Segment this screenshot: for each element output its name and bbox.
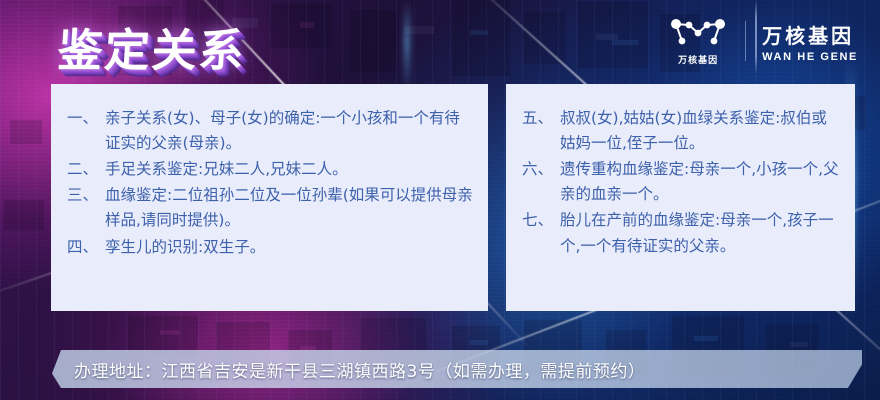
poster-root: 鉴定关系 [0, 0, 880, 400]
list-item-text: 叔叔(女),姑姑(女)血绿关系鉴定:叔伯或姑妈一位,侄子一位。 [560, 106, 841, 156]
brand-text: 万核基因 WAN HE GENE [762, 20, 858, 63]
brand-mark-label: 万核基因 [678, 53, 718, 66]
brand-divider [745, 21, 746, 61]
relationship-list-left: 一、亲子关系(女)、母子(女)的确定:一个小孩和一个有待证实的父亲(母亲)。二、… [67, 106, 474, 260]
panel-right: 五、叔叔(女),姑姑(女)血绿关系鉴定:叔伯或姑妈一位,侄子一位。六、遗传重构血… [506, 84, 855, 311]
brand-logo: 万核基因 万核基因 WAN HE GENE [667, 16, 858, 66]
list-item-text: 亲子关系(女)、母子(女)的确定:一个小孩和一个有待证实的父亲(母亲)。 [105, 106, 474, 156]
list-item-text: 胎儿在产前的血缘鉴定:母亲一个,孩子一个,一个有待证实的父亲。 [560, 208, 841, 258]
list-item-text: 遗传重构血缘鉴定:母亲一个,小孩一个,父亲的血亲一个。 [560, 157, 841, 207]
page-title: 鉴定关系 [56, 14, 249, 79]
dna-network-icon [667, 16, 729, 50]
address-text: 办理地址：江西省吉安是新干县三湖镇西路3号（如需办理，需提前预约） [74, 357, 645, 382]
list-item-index: 六、 [522, 157, 560, 207]
list-item-text: 孪生儿的识别:双生子。 [105, 235, 474, 260]
list-item: 一、亲子关系(女)、母子(女)的确定:一个小孩和一个有待证实的父亲(母亲)。 [67, 106, 474, 156]
list-item-index: 五、 [522, 106, 560, 156]
brand-mark: 万核基因 [667, 16, 729, 66]
list-item: 五、叔叔(女),姑姑(女)血绿关系鉴定:叔伯或姑妈一位,侄子一位。 [522, 106, 841, 156]
list-item-index: 二、 [67, 157, 105, 182]
list-item: 四、孪生儿的识别:双生子。 [67, 235, 474, 260]
content-panels: 一、亲子关系(女)、母子(女)的确定:一个小孩和一个有待证实的父亲(母亲)。二、… [51, 84, 855, 311]
relationship-list-right: 五、叔叔(女),姑姑(女)血绿关系鉴定:叔伯或姑妈一位,侄子一位。六、遗传重构血… [522, 106, 841, 259]
brand-name-en: WAN HE GENE [762, 51, 858, 63]
list-item-index: 三、 [67, 183, 105, 233]
list-item-text: 手足关系鉴定:兄妹二人,兄妹二人。 [105, 157, 474, 182]
list-item-index: 一、 [67, 106, 105, 156]
list-item: 三、血缘鉴定:二位祖孙二位及一位孙辈(如果可以提供母亲样品,请同时提供)。 [67, 183, 474, 233]
list-item-index: 七、 [522, 208, 560, 258]
panel-left: 一、亲子关系(女)、母子(女)的确定:一个小孩和一个有待证实的父亲(母亲)。二、… [51, 84, 488, 311]
list-item: 六、遗传重构血缘鉴定:母亲一个,小孩一个,父亲的血亲一个。 [522, 157, 841, 207]
address-bar: 办理地址：江西省吉安是新干县三湖镇西路3号（如需办理，需提前预约） [52, 350, 862, 388]
list-item-text: 血缘鉴定:二位祖孙二位及一位孙辈(如果可以提供母亲样品,请同时提供)。 [105, 183, 474, 233]
background-glow-beam-1 [404, 0, 410, 92]
list-item: 二、手足关系鉴定:兄妹二人,兄妹二人。 [67, 157, 474, 182]
brand-name-cn: 万核基因 [762, 20, 858, 49]
list-item: 七、胎儿在产前的血缘鉴定:母亲一个,孩子一个,一个有待证实的父亲。 [522, 208, 841, 258]
list-item-index: 四、 [67, 235, 105, 260]
